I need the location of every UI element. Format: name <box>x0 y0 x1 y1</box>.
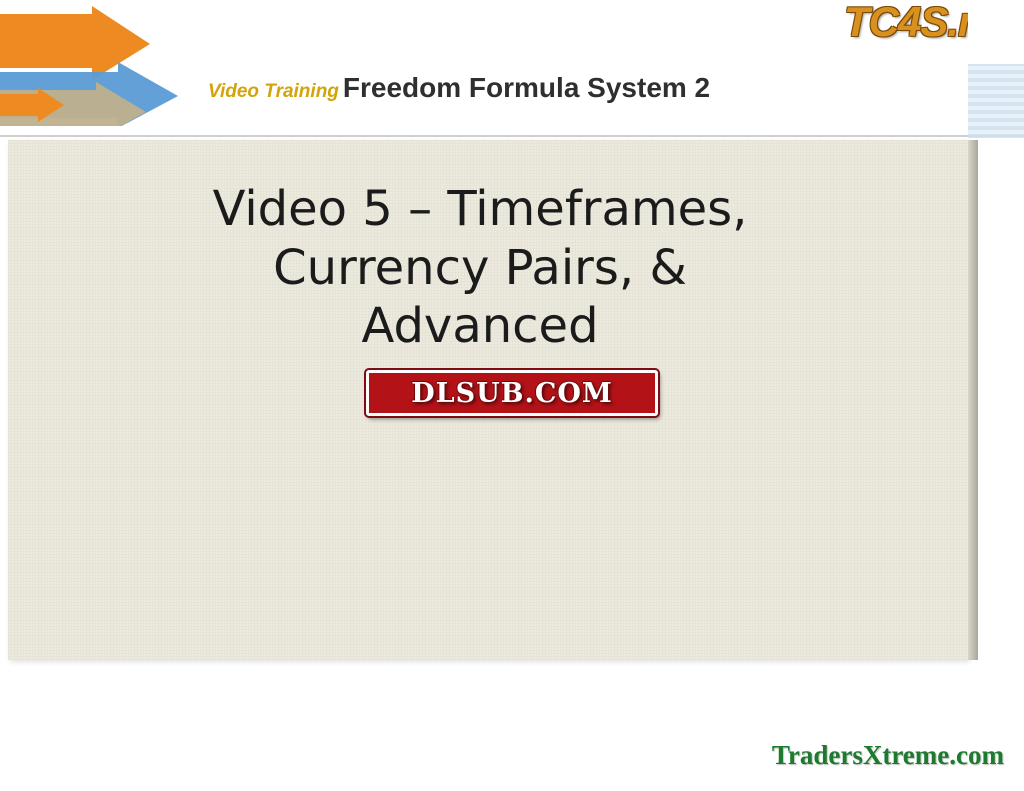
slide-header: TC4S.net Video TrainingFreedom Formula S… <box>0 0 1024 136</box>
footer-logo: TradersXtreme.com <box>762 736 1014 777</box>
dlsub-watermark: DLSUB.COM <box>366 370 658 416</box>
slide-title-line-1: Video 5 – Timeframes, <box>80 180 880 239</box>
header-divider <box>0 135 1024 137</box>
corner-white-block <box>968 0 1024 64</box>
header-title-prefix: Video Training <box>208 81 339 102</box>
header-title-main: Freedom Formula System 2 <box>343 72 710 103</box>
dlsub-watermark-text: DLSUB.COM <box>411 378 613 409</box>
slide-title-line-3: Advanced <box>80 297 880 356</box>
header-title: Video TrainingFreedom Formula System 2 <box>208 72 710 104</box>
slide-right-edge <box>968 140 978 660</box>
slide-title: Video 5 – Timeframes, Currency Pairs, & … <box>80 180 880 356</box>
corner-hatch-decoration <box>968 64 1024 138</box>
arrows-svg <box>0 6 250 126</box>
decorative-arrows <box>0 6 250 126</box>
slide-title-line-2: Currency Pairs, & <box>80 239 880 298</box>
footer-logo-text: TradersXtreme.com <box>772 740 1004 770</box>
